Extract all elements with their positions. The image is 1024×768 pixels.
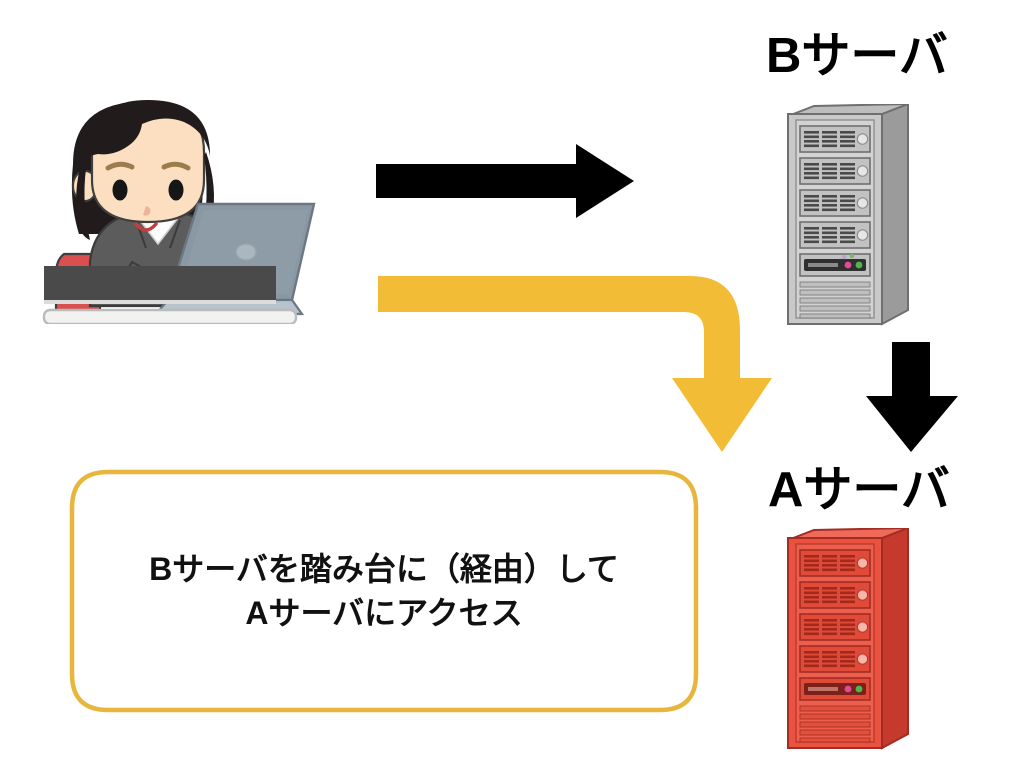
drive-bay [800,646,870,672]
black-right-arrow [376,142,638,220]
led-pink [845,686,852,693]
led-violet [842,255,846,259]
drive-bay [800,190,870,216]
drive-bay [800,126,870,152]
desk-top-edge [44,310,296,324]
server-b-control-panel [800,254,870,276]
server-b-label: Bサーバ [766,32,948,81]
callout-text-block: Bサーバを踏み台に（経由）して Aサーバにアクセス [62,462,706,720]
drive-bay [800,582,870,608]
callout-box: Bサーバを踏み台に（経由）して Aサーバにアクセス [62,462,706,720]
desk-front-panel [44,266,276,306]
right-arrow-shape [376,144,634,218]
drive-bay [800,550,870,576]
server-a-side-panel [882,528,908,748]
led-green [856,686,863,693]
elbow-arrow-shape [378,276,772,452]
drive-bay [800,222,870,248]
eye-right [169,180,184,201]
diagram-canvas: Bサーバ [0,0,1024,768]
yellow-elbow-arrow [372,268,772,458]
down-arrow-shape [866,342,958,452]
black-down-arrow [862,340,962,456]
desk-slab [44,266,276,302]
callout-line-1: Bサーバを踏み台に（経由）して [149,549,619,589]
eye-left [113,180,128,201]
server-b-illustration [780,104,916,330]
callout-line-2: Aサーバにアクセス [245,593,522,633]
desk-shadow [44,300,276,304]
drive-bay [800,158,870,184]
server-a-illustration [780,528,916,754]
server-a-label: Aサーバ [768,466,950,515]
led-lime [850,254,854,258]
server-b-vents-lower [800,314,870,318]
server-a-control-panel [800,678,870,700]
server-b-side-panel [882,104,908,324]
laptop-logo [236,244,256,260]
led-green [856,262,863,269]
led-pink [845,262,852,269]
drive-bay [800,614,870,640]
